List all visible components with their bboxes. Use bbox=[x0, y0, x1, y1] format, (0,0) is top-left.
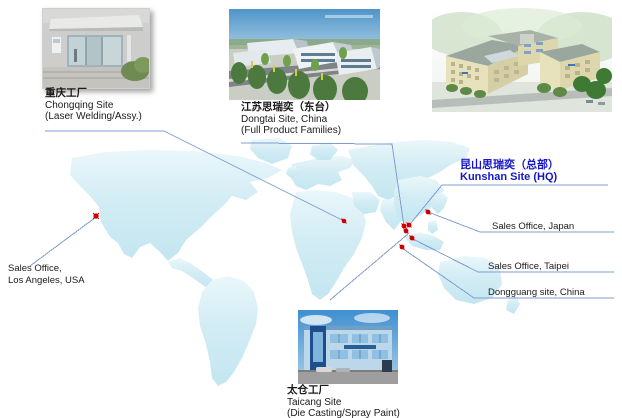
callout-dongguang: Dongguang site, China bbox=[488, 287, 585, 298]
label-dongtai-en1: Dongtai Site, China bbox=[241, 114, 341, 126]
photo-taicang-site bbox=[298, 310, 398, 384]
label-taicang-en2: (Die Casting/Spray Paint) bbox=[287, 408, 400, 418]
label-taicang-cn: 太仓工厂 bbox=[287, 385, 400, 397]
label-taicang: 太仓工厂 Taicang Site (Die Casting/Spray Pai… bbox=[287, 385, 400, 418]
label-kunshan-cn: 昆山思瑞奕（总部） bbox=[460, 160, 559, 172]
kunshan-headquarters-rendering-photo bbox=[432, 8, 612, 112]
dongtai-campus-rendering-photo bbox=[229, 9, 380, 100]
callout-sales-los-angeles: Sales Office, Los Angeles, USA bbox=[8, 263, 85, 287]
label-dongtai-en2: (Full Product Families) bbox=[241, 125, 341, 137]
label-taicang-en1: Taicang Site bbox=[287, 397, 400, 409]
chongqing-factory-entrance-photo bbox=[43, 9, 149, 88]
callout-sales-japan: Sales Office, Japan bbox=[492, 221, 574, 232]
label-kunshan-hq: 昆山思瑞奕（总部） Kunshan Site (HQ) bbox=[460, 160, 559, 183]
marker-chongqing[interactable] bbox=[342, 219, 347, 224]
callout-sales-taipei: Sales Office, Taipei bbox=[488, 261, 569, 272]
label-chongqing-cn: 重庆工厂 bbox=[45, 88, 142, 100]
marker-sales-japan[interactable] bbox=[426, 210, 431, 215]
marker-taicang[interactable] bbox=[400, 245, 405, 250]
world-sites-map: 重庆工厂 Chongqing Site (Laser Welding/Assy.… bbox=[0, 0, 622, 418]
label-kunshan-en1: Kunshan Site (HQ) bbox=[460, 172, 559, 184]
marker-sales-taipei[interactable] bbox=[410, 236, 415, 241]
marker-los-angeles[interactable] bbox=[93, 213, 99, 219]
photo-kunshan-site bbox=[432, 8, 612, 112]
taicang-factory-building-photo bbox=[298, 310, 398, 384]
marker-dongtai[interactable] bbox=[402, 224, 407, 229]
label-dongtai-cn: 江苏思瑞奕（东台） bbox=[241, 102, 341, 114]
label-dongtai: 江苏思瑞奕（东台） Dongtai Site, China (Full Prod… bbox=[241, 102, 341, 137]
label-chongqing-en2: (Laser Welding/Assy.) bbox=[45, 111, 142, 123]
marker-kunshan[interactable] bbox=[407, 223, 412, 228]
label-chongqing-en1: Chongqing Site bbox=[45, 100, 142, 112]
callout-los-angeles-line1: Sales Office, bbox=[8, 263, 85, 275]
callout-los-angeles-line2: Los Angeles, USA bbox=[8, 275, 85, 287]
label-chongqing: 重庆工厂 Chongqing Site (Laser Welding/Assy.… bbox=[45, 88, 142, 123]
photo-dongtai-site bbox=[229, 9, 380, 100]
marker-kunshan-secondary[interactable] bbox=[404, 229, 409, 234]
photo-chongqing-site bbox=[42, 8, 150, 89]
marker-group bbox=[93, 210, 431, 250]
